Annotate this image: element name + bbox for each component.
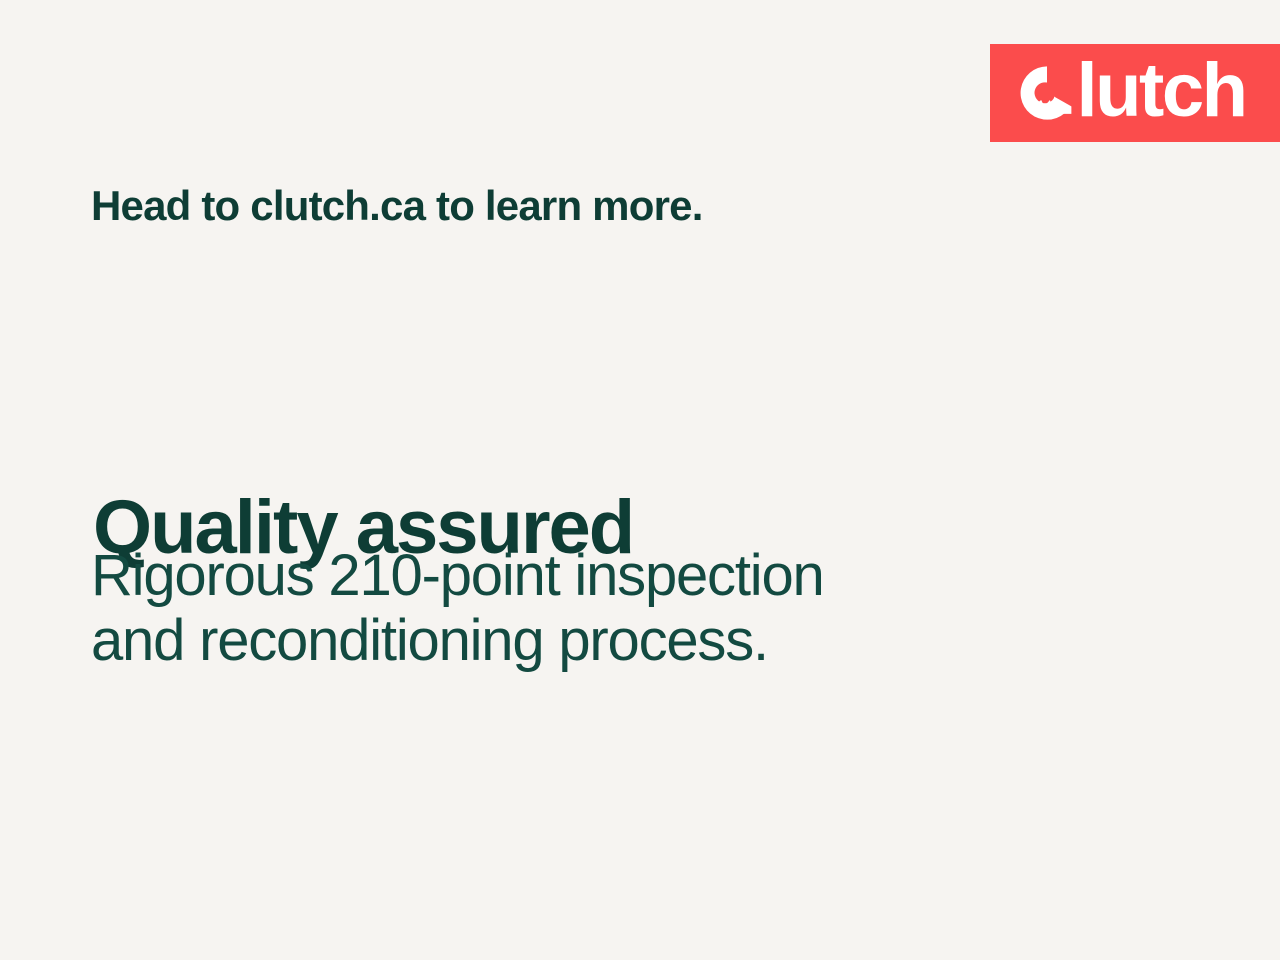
body-copy-line-1: Rigorous 210-point inspection bbox=[91, 543, 824, 608]
eyebrow-text: Head to clutch.ca to learn more. bbox=[91, 182, 703, 230]
clutch-wordmark-text: lutch bbox=[1076, 53, 1245, 129]
slide-canvas: lutch Head to clutch.ca to learn more. Q… bbox=[0, 0, 1280, 960]
clutch-logo[interactable]: lutch bbox=[990, 44, 1280, 142]
body-copy-line-2: and reconditioning process. bbox=[91, 608, 824, 673]
clutch-wordmark: lutch bbox=[1018, 55, 1245, 131]
clutch-plate-c-icon bbox=[1018, 64, 1076, 122]
body-copy: Rigorous 210-point inspection and recond… bbox=[91, 543, 824, 673]
